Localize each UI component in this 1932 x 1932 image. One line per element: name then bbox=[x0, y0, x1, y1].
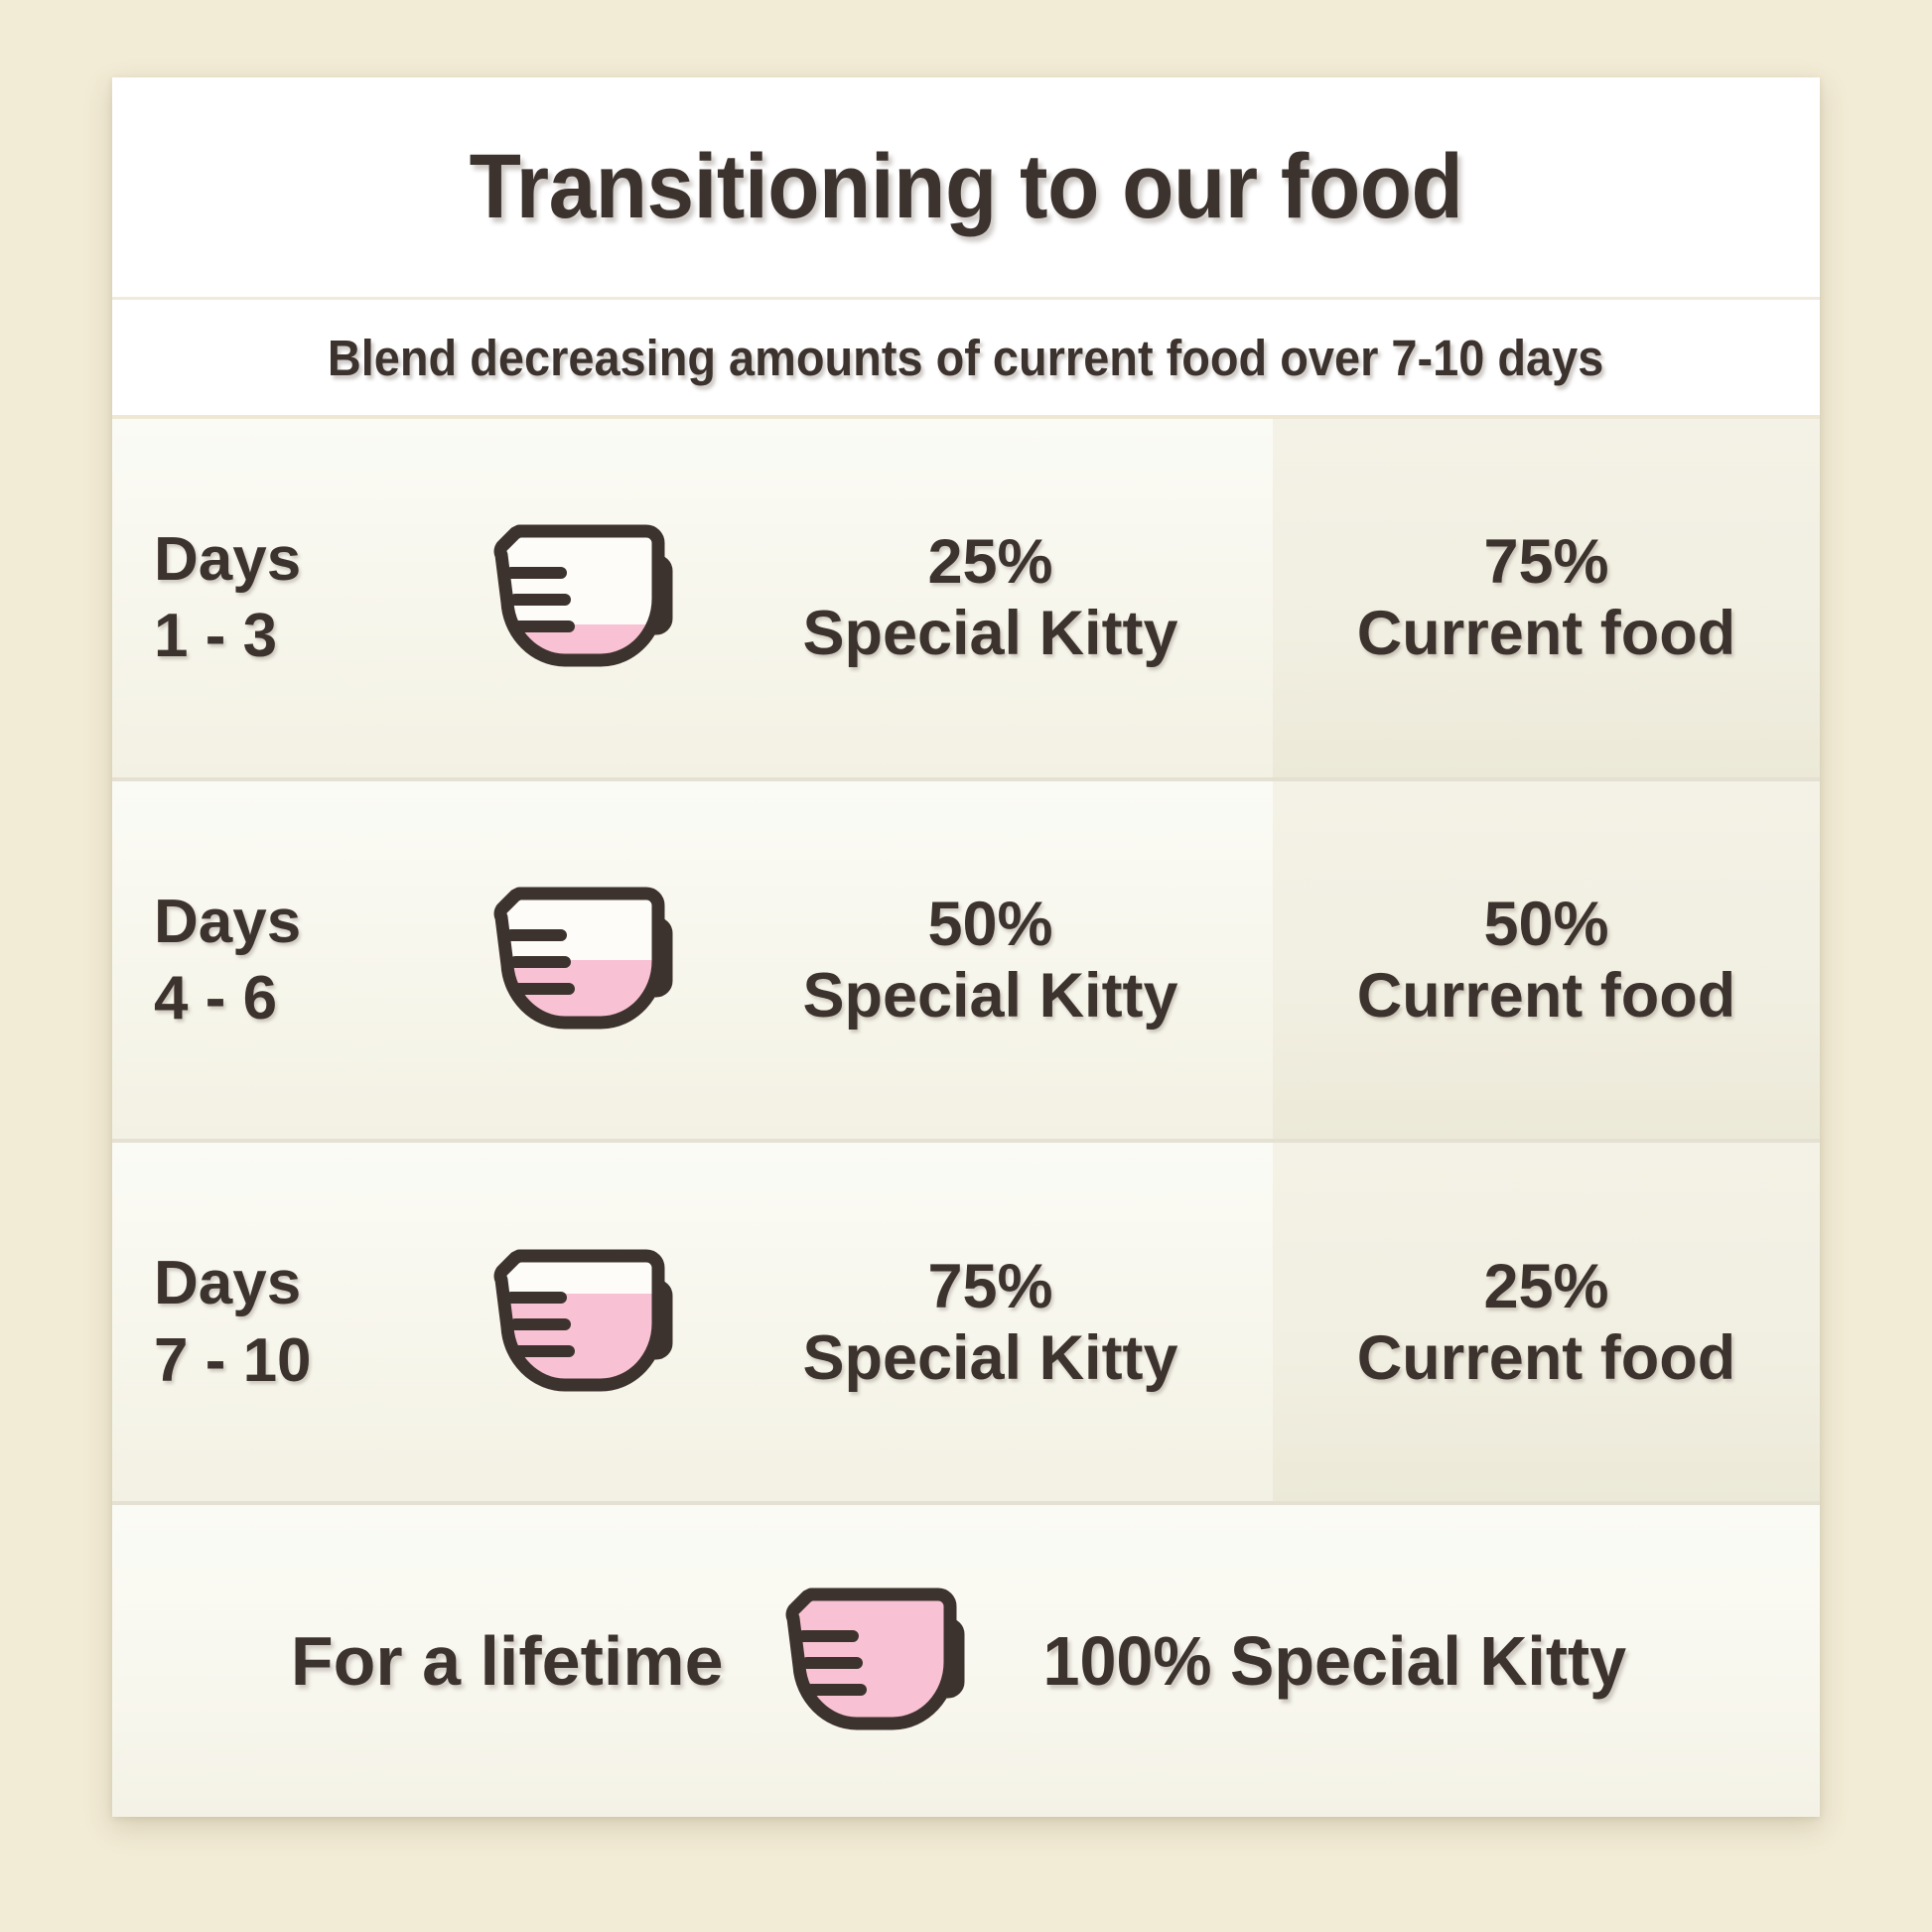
card-header: Transitioning to our food bbox=[112, 77, 1820, 300]
days-cell: Days 1 - 3 bbox=[112, 528, 440, 667]
infographic-page: Transitioning to our food Blend decreasi… bbox=[0, 0, 1932, 1932]
card-subheader: Blend decreasing amounts of current food… bbox=[112, 300, 1820, 419]
days-cell: Days 4 - 6 bbox=[112, 891, 440, 1030]
new-food-percent: 25% bbox=[927, 529, 1052, 595]
page-title: Transitioning to our food bbox=[470, 135, 1463, 239]
lifetime-right-text: 100% Special Kitty bbox=[1042, 1621, 1626, 1701]
measuring-cup-icon bbox=[771, 1567, 980, 1755]
current-food-label: Current food bbox=[1357, 1325, 1735, 1391]
days-label: Days bbox=[154, 528, 440, 591]
new-food-percent: 75% bbox=[927, 1254, 1052, 1319]
days-cell: Days 7 - 10 bbox=[112, 1252, 440, 1391]
transition-rows: Days 1 - 3 bbox=[112, 419, 1820, 1501]
new-food-percent: 50% bbox=[927, 892, 1052, 957]
days-label: Days bbox=[154, 1252, 440, 1314]
lifetime-row: For a lifetime bbox=[112, 1501, 1820, 1817]
days-label: Days bbox=[154, 891, 440, 953]
days-range: 1 - 3 bbox=[154, 605, 440, 667]
lifetime-left-text: For a lifetime bbox=[291, 1621, 724, 1701]
new-food-label: Special Kitty bbox=[802, 1325, 1177, 1391]
current-food-percent: 75% bbox=[1483, 529, 1608, 595]
current-food-label: Current food bbox=[1357, 601, 1735, 666]
measuring-cup-icon bbox=[440, 1228, 728, 1417]
new-food-label: Special Kitty bbox=[802, 963, 1177, 1029]
table-row: Days 4 - 6 bbox=[112, 781, 1820, 1144]
new-food-cell: 75% Special Kitty bbox=[728, 1254, 1273, 1391]
days-range: 4 - 6 bbox=[154, 967, 440, 1030]
current-food-cell: 50% Current food bbox=[1273, 892, 1820, 1029]
new-food-label: Special Kitty bbox=[802, 601, 1177, 666]
current-food-percent: 25% bbox=[1483, 1254, 1608, 1319]
current-food-percent: 50% bbox=[1483, 892, 1608, 957]
new-food-cell: 50% Special Kitty bbox=[728, 892, 1273, 1029]
new-food-cell: 25% Special Kitty bbox=[728, 529, 1273, 666]
measuring-cup-icon bbox=[440, 503, 728, 692]
current-food-cell: 25% Current food bbox=[1273, 1254, 1820, 1391]
days-range: 7 - 10 bbox=[154, 1329, 440, 1392]
subtitle-text: Blend decreasing amounts of current food… bbox=[328, 329, 1603, 387]
measuring-cup-icon bbox=[440, 866, 728, 1054]
current-food-cell: 75% Current food bbox=[1273, 529, 1820, 666]
table-row: Days 7 - 10 bbox=[112, 1143, 1820, 1501]
transition-chart-card: Transitioning to our food Blend decreasi… bbox=[112, 77, 1820, 1817]
table-row: Days 1 - 3 bbox=[112, 419, 1820, 781]
current-food-label: Current food bbox=[1357, 963, 1735, 1029]
